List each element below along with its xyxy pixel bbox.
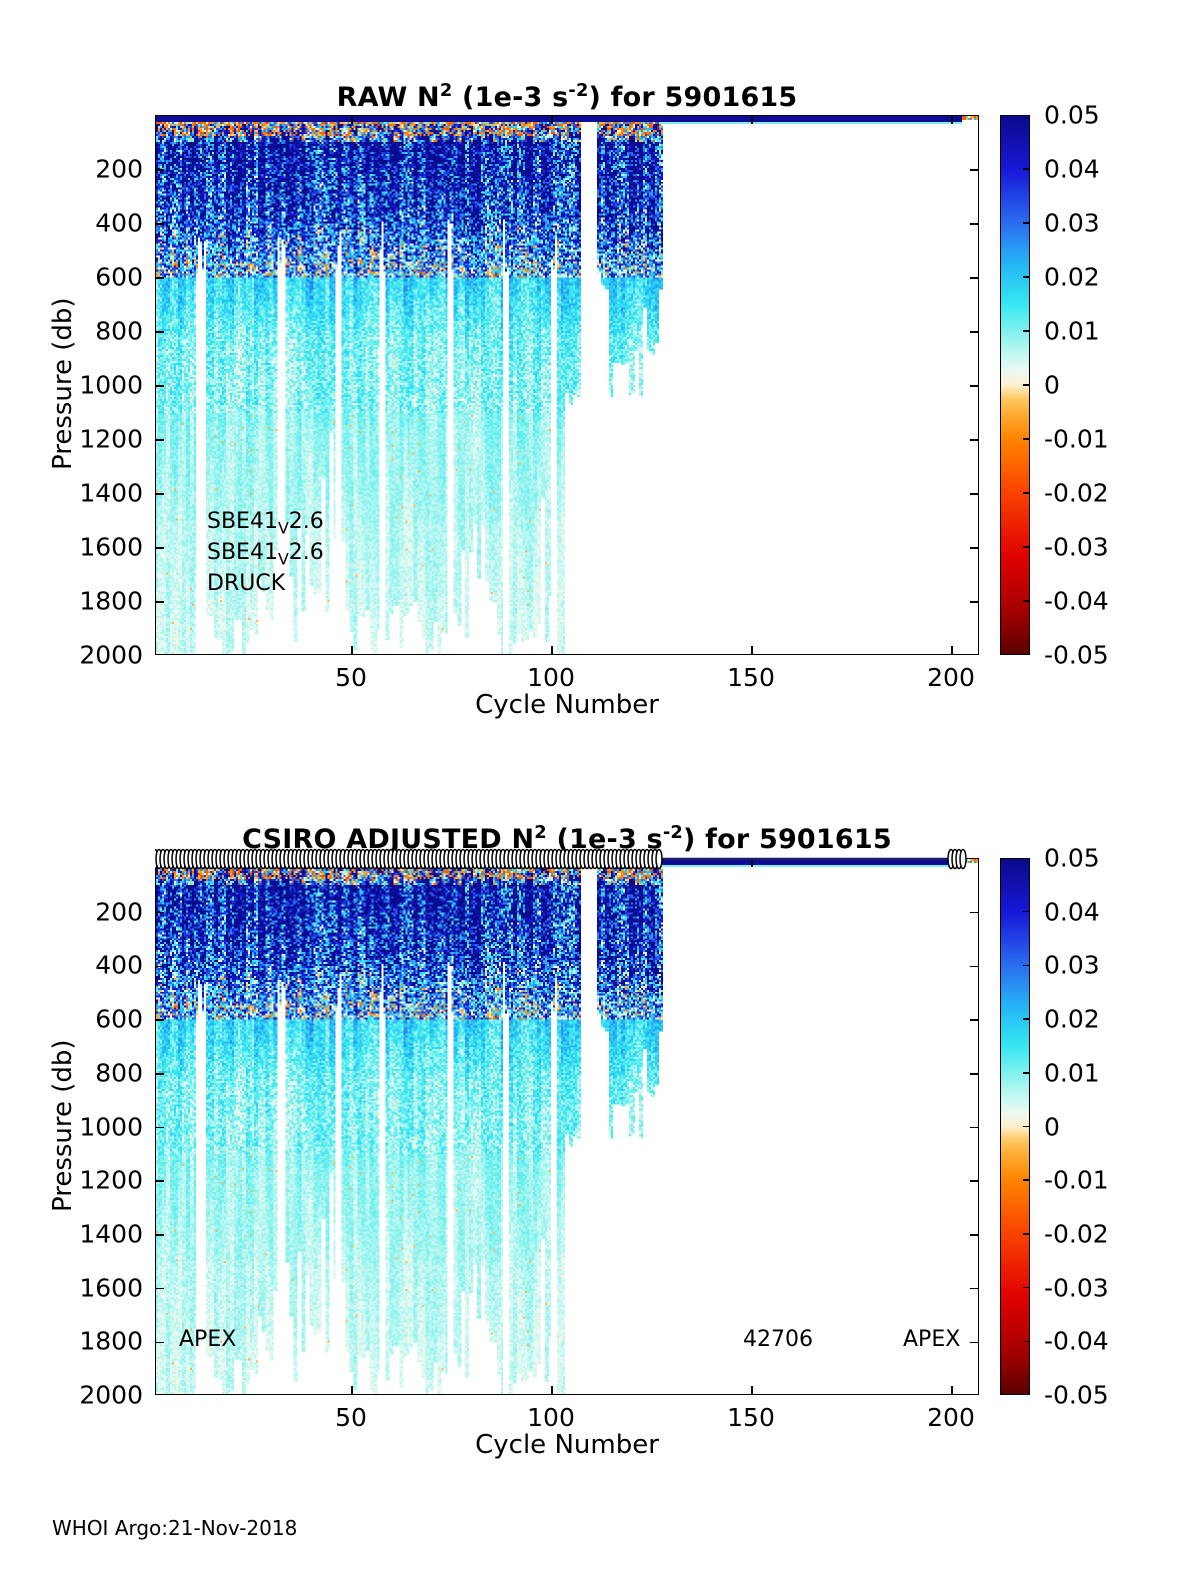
adj-title-sup1: 2	[534, 822, 547, 843]
colorbar-tick-label: -0.01	[1044, 425, 1109, 454]
x-tick-label: 100	[527, 663, 575, 692]
figure-canvas: RAW N2 (1e-3 s-2) for 5901615 2004006008…	[0, 0, 1200, 1575]
plot-annotation: APEX	[903, 1327, 960, 1352]
raw-title-sup2: -2	[568, 80, 588, 101]
x-tick-top	[351, 859, 353, 867]
colorbar-tick-label: 0.03	[1044, 951, 1100, 980]
colorbar-tick	[1023, 1341, 1030, 1343]
y-tick-label: 1600	[3, 533, 143, 562]
y-tick-label: 600	[3, 1005, 143, 1034]
raw-title-lead: RAW N	[337, 82, 440, 113]
plot-annotation: SBE41V2.6	[207, 509, 324, 537]
y-tick-right	[970, 1234, 978, 1236]
x-tick-label: 200	[927, 1403, 975, 1432]
y-tick	[156, 1342, 164, 1344]
y-tick	[156, 1127, 164, 1129]
y-tick-right	[970, 912, 978, 914]
y-tick	[156, 223, 164, 225]
raw-plot-title: RAW N2 (1e-3 s-2) for 5901615	[155, 80, 979, 113]
colorbar-tick	[1023, 546, 1030, 548]
x-tick-top	[351, 116, 353, 124]
x-tick	[551, 646, 553, 654]
y-tick-label: 200	[3, 155, 143, 184]
annotation-text: APEX	[903, 1327, 960, 1352]
y-tick-right	[970, 1342, 978, 1344]
figure-footer: WHOI Argo:21-Nov-2018	[52, 1516, 297, 1540]
y-tick	[156, 493, 164, 495]
raw-yaxis-label: Pressure (db)	[48, 297, 78, 470]
y-tick-right	[970, 1127, 978, 1129]
colorbar-tick-label: 0.03	[1044, 209, 1100, 238]
x-tick-top	[551, 116, 553, 124]
x-tick-label: 50	[335, 1403, 367, 1432]
y-tick	[156, 385, 164, 387]
y-tick-right	[970, 493, 978, 495]
plot-annotation: APEX	[179, 1327, 236, 1352]
y-tick-label: 1400	[3, 479, 143, 508]
y-tick	[156, 277, 164, 279]
colorbar-tick-label: 0	[1044, 371, 1060, 400]
adjusted-heatmap	[156, 859, 978, 1394]
colorbar-tick-label: 0	[1044, 1112, 1060, 1141]
colorbar-tick	[1023, 911, 1030, 913]
y-tick	[156, 547, 164, 549]
y-tick-right	[970, 169, 978, 171]
colorbar-tick-label: -0.02	[1044, 1219, 1109, 1248]
annotation-text: 42706	[743, 1327, 813, 1352]
colorbar-tick	[1023, 600, 1030, 602]
colorbar-tick-label: 0.02	[1044, 1005, 1100, 1034]
colorbar-tick	[1023, 1287, 1030, 1289]
colorbar-tick	[1023, 222, 1030, 224]
y-tick-label: 2000	[3, 1381, 143, 1410]
y-tick-right	[970, 1288, 978, 1290]
adjusted-axes	[155, 858, 979, 1395]
y-tick	[156, 1288, 164, 1290]
x-tick	[951, 646, 953, 654]
colorbar-tick-label: 0.01	[1044, 1058, 1100, 1087]
colorbar-tick	[1023, 168, 1030, 170]
colorbar-tick	[1023, 1233, 1030, 1235]
y-tick	[156, 912, 164, 914]
y-tick-label: 600	[3, 263, 143, 292]
x-tick	[351, 646, 353, 654]
y-tick	[156, 1180, 164, 1182]
y-tick-label: 1600	[3, 1273, 143, 1302]
colorbar-tick	[1023, 965, 1030, 967]
colorbar-tick-label: -0.01	[1044, 1166, 1109, 1195]
y-tick	[156, 331, 164, 333]
annotation-subscript: V	[278, 549, 289, 568]
y-tick	[156, 1234, 164, 1236]
adjusted-yaxis-label: Pressure (db)	[48, 1039, 78, 1212]
plot-annotation: DRUCK	[207, 571, 285, 596]
x-tick-top	[751, 116, 753, 124]
colorbar-tick-label: -0.03	[1044, 533, 1109, 562]
adjusted-plot-title: CSIRO ADJUSTED N2 (1e-3 s-2) for 5901615	[155, 822, 979, 855]
y-tick	[156, 966, 164, 968]
colorbar-tick-label: -0.03	[1044, 1273, 1109, 1302]
x-tick-label: 50	[335, 663, 367, 692]
x-tick-label: 150	[727, 663, 775, 692]
x-tick	[751, 646, 753, 654]
annotation-text: SBE41	[207, 509, 278, 534]
y-tick-right	[970, 331, 978, 333]
y-tick-right	[970, 277, 978, 279]
plot-annotation: 42706	[743, 1327, 813, 1352]
annotation-text-2: 2.6	[289, 509, 324, 534]
annotation-text: APEX	[179, 1327, 236, 1352]
y-tick-right	[970, 966, 978, 968]
adj-title-lead: CSIRO ADJUSTED N	[242, 824, 534, 855]
raw-title-mid: (1e-3 s	[452, 82, 568, 113]
y-tick-label: 2000	[3, 641, 143, 670]
colorbar-tick-label: 0.02	[1044, 263, 1100, 292]
x-tick-top	[951, 116, 953, 124]
y-tick-right	[970, 1073, 978, 1075]
y-tick-label: 400	[3, 951, 143, 980]
colorbar-tick-label: 0.05	[1044, 101, 1100, 130]
adjusted-xaxis-label: Cycle Number	[475, 1430, 659, 1460]
colorbar-tick	[1023, 1179, 1030, 1181]
colorbar-tick-label: 0.01	[1044, 317, 1100, 346]
colorbar-tick	[1023, 438, 1030, 440]
y-tick-right	[970, 385, 978, 387]
y-tick-right	[970, 547, 978, 549]
adj-title-tail: ) for 5901615	[683, 824, 892, 855]
colorbar-tick	[1023, 1126, 1030, 1128]
colorbar-tick-label: -0.04	[1044, 587, 1109, 616]
x-tick	[751, 1386, 753, 1394]
colorbar-tick	[1023, 330, 1030, 332]
x-tick-label: 150	[727, 1403, 775, 1432]
x-tick	[351, 1386, 353, 1394]
x-tick-top	[551, 859, 553, 867]
raw-xaxis-label: Cycle Number	[475, 690, 659, 720]
y-tick	[156, 439, 164, 441]
annotation-text: DRUCK	[207, 571, 285, 596]
y-tick	[156, 1073, 164, 1075]
colorbar-tick	[1023, 276, 1030, 278]
annotation-subscript: V	[278, 518, 289, 537]
y-tick-label: 1800	[3, 587, 143, 616]
y-tick-label: 200	[3, 897, 143, 926]
y-tick-label: 1800	[3, 1327, 143, 1356]
colorbar-tick-label: 0.04	[1044, 155, 1100, 184]
x-tick-label: 100	[527, 1403, 575, 1432]
colorbar-tick-label: 0.05	[1044, 844, 1100, 873]
x-tick	[551, 1386, 553, 1394]
y-tick-right	[970, 439, 978, 441]
raw-title-sup1: 2	[440, 80, 453, 101]
colorbar-tick-label: -0.04	[1044, 1327, 1109, 1356]
y-tick	[156, 169, 164, 171]
y-tick-right	[970, 223, 978, 225]
x-tick-label: 200	[927, 663, 975, 692]
y-tick	[156, 601, 164, 603]
colorbar-tick	[1023, 1072, 1030, 1074]
x-tick-top	[751, 859, 753, 867]
colorbar-tick	[1023, 384, 1030, 386]
colorbar-tick	[1023, 1018, 1030, 1020]
adj-title-mid: (1e-3 s	[547, 824, 663, 855]
colorbar-tick-label: -0.05	[1044, 1381, 1109, 1410]
annotation-text-2: 2.6	[289, 540, 324, 565]
colorbar-tick-label: -0.02	[1044, 479, 1109, 508]
adj-title-sup2: -2	[663, 822, 683, 843]
x-tick	[951, 1386, 953, 1394]
y-tick-label: 1400	[3, 1219, 143, 1248]
y-tick-right	[970, 601, 978, 603]
colorbar-tick	[1023, 492, 1030, 494]
colorbar-tick-label: -0.05	[1044, 641, 1109, 670]
y-tick-label: 400	[3, 209, 143, 238]
plot-annotation: SBE41V2.6	[207, 540, 324, 568]
colorbar-tick-label: 0.04	[1044, 897, 1100, 926]
y-tick	[156, 1019, 164, 1021]
y-tick-right	[970, 1180, 978, 1182]
x-tick-top	[951, 859, 953, 867]
annotation-text: SBE41	[207, 540, 278, 565]
y-tick-right	[970, 1019, 978, 1021]
raw-title-tail: ) for 5901615	[589, 82, 798, 113]
